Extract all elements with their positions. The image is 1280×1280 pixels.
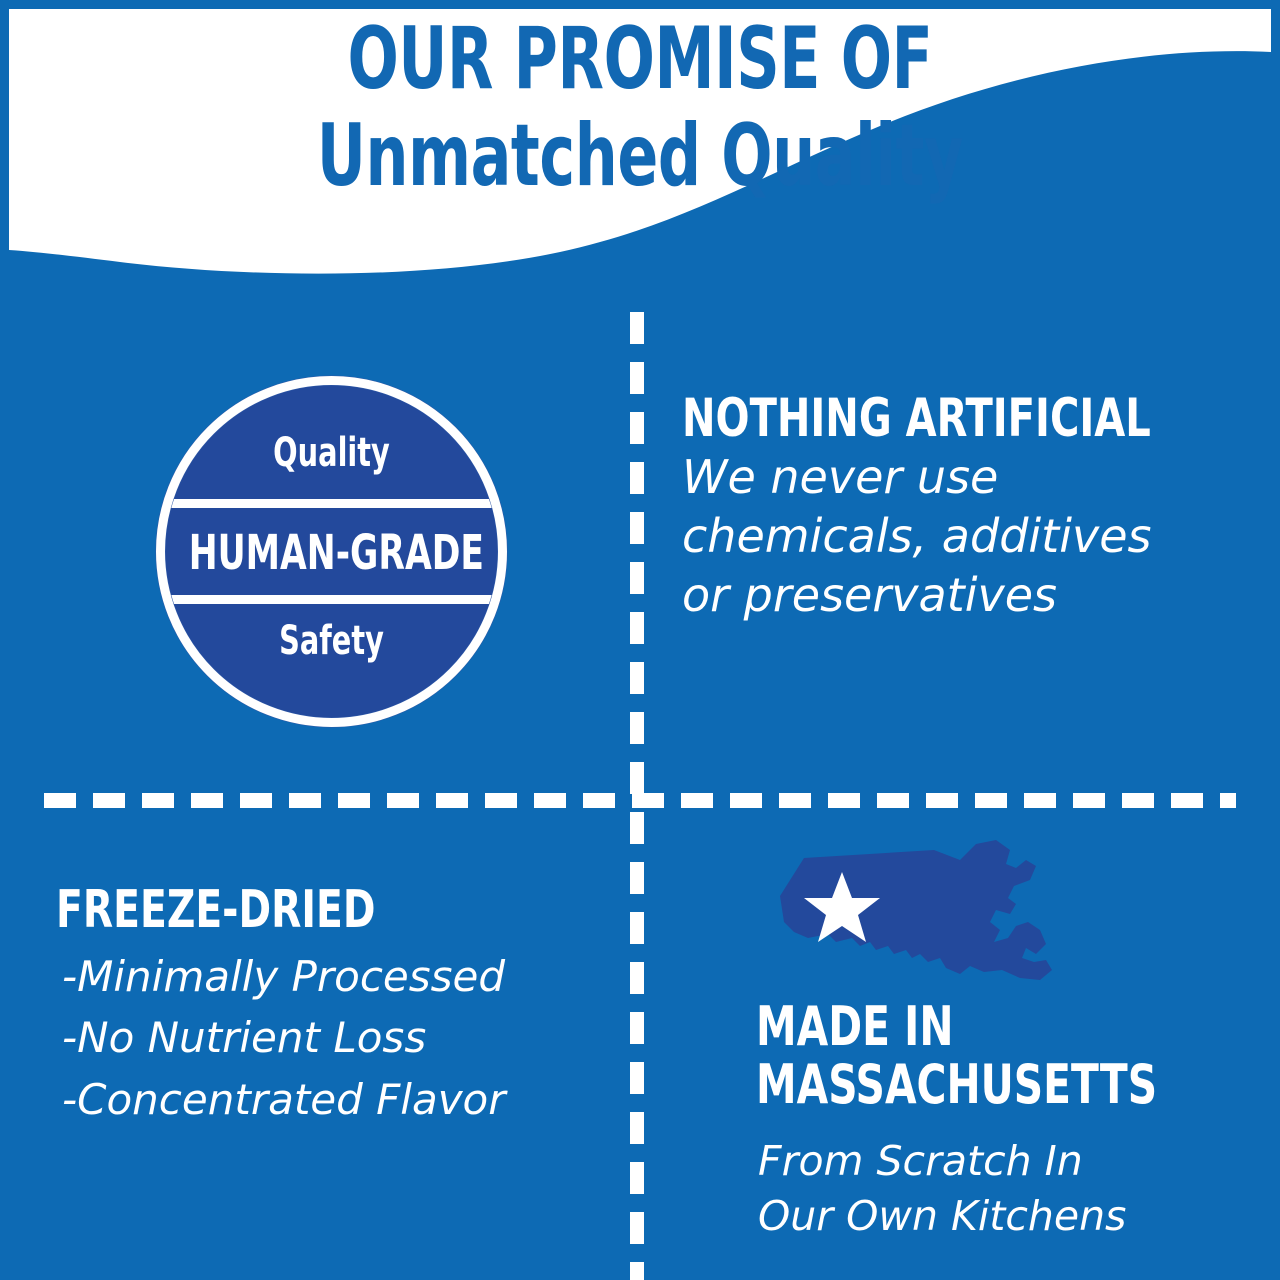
nothing-artificial-body: We never use chemicals, additives or pre… — [682, 448, 1272, 625]
human-grade-badge: Quality HUMAN-GRADE Safety — [153, 373, 510, 730]
header-panel: OUR PROMISE OF Unmatched Quality — [0, 0, 1280, 330]
quadrant-nothing-artificial: NOTHING ARTIFICIAL We never use chemical… — [644, 330, 1280, 793]
body-line: We never use — [682, 448, 1272, 507]
body-line: or preservatives — [682, 566, 1272, 625]
sub-line: Our Own Kitchens — [758, 1189, 1126, 1244]
freeze-dried-bullet-list: -Minimally Processed -No Nutrient Loss -… — [62, 946, 506, 1130]
vertical-dashed-divider — [630, 312, 644, 1280]
promise-infographic: OUR PROMISE OF Unmatched Quality Quality — [0, 0, 1280, 1280]
quadrant-human-grade: Quality HUMAN-GRADE Safety — [0, 330, 630, 793]
list-item: -Minimally Processed — [62, 946, 506, 1007]
quadrant-made-in-massachusetts: MADE IN MASSACHUSETTS From Scratch In Ou… — [644, 808, 1280, 1280]
page-title-line-1: OUR PROMISE OF — [141, 18, 1139, 101]
made-in-massachusetts-heading: MADE IN MASSACHUSETTS — [756, 998, 1157, 1115]
quadrant-freeze-dried: FREEZE-DRIED -Minimally Processed -No Nu… — [0, 808, 630, 1280]
nothing-artificial-heading: NOTHING ARTIFICIAL — [682, 392, 1151, 445]
heading-line: MADE IN — [756, 998, 1157, 1056]
badge-label-safety: Safety — [189, 618, 475, 664]
heading-line: MASSACHUSETTS — [756, 1056, 1157, 1114]
sub-line: From Scratch In — [758, 1134, 1126, 1189]
page-title-line-2: Unmatched Quality — [141, 115, 1139, 198]
badge-label-quality: Quality — [189, 430, 475, 476]
badge-label-human-grade: HUMAN-GRADE — [189, 525, 475, 581]
list-item: -Concentrated Flavor — [62, 1069, 506, 1130]
body-line: chemicals, additives — [682, 507, 1272, 566]
made-in-massachusetts-subtext: From Scratch In Our Own Kitchens — [758, 1134, 1126, 1244]
header-title-block: OUR PROMISE OF Unmatched Quality — [0, 18, 1280, 197]
freeze-dried-heading: FREEZE-DRIED — [56, 884, 375, 936]
list-item: -No Nutrient Loss — [62, 1007, 506, 1068]
